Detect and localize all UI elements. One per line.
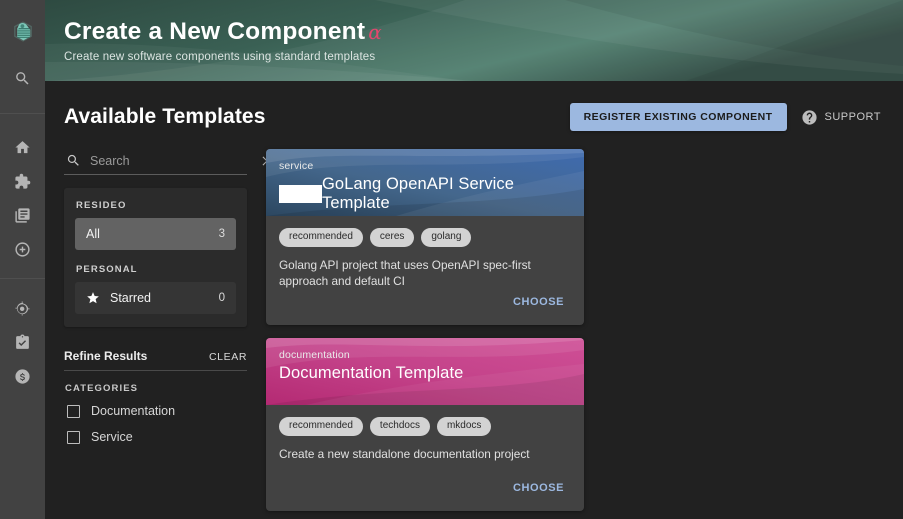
backstage-layers-logo-icon xyxy=(12,20,34,44)
alpha-badge: α xyxy=(365,20,382,44)
clear-filters-button[interactable]: CLEAR xyxy=(209,351,247,363)
template-title: GoLang OpenAPI Service Template xyxy=(322,175,570,213)
choose-button[interactable]: CHOOSE xyxy=(505,475,572,501)
template-title-row: Documentation Template xyxy=(279,364,570,383)
scope-filter-panel: RESIDEO All 3 PERSONAL Starred 0 xyxy=(64,188,247,327)
dollar-circle-icon xyxy=(14,368,31,385)
checkbox-label-service: Service xyxy=(91,430,133,444)
backstage-app: Create a New Componentα Create new softw… xyxy=(0,0,903,519)
filter-count-starred: 0 xyxy=(219,292,225,304)
template-card-header: service GoLang OpenAPI Service Template xyxy=(266,149,584,216)
filter-label-starred: Starred xyxy=(110,291,219,305)
template-card-actions: CHOOSE xyxy=(266,289,584,325)
main-content: Create a New Componentα Create new softw… xyxy=(45,0,903,519)
page-subtitle: Create new software components using sta… xyxy=(64,51,903,63)
sidebar-divider-bottom xyxy=(0,278,45,279)
template-cards-grid: service GoLang OpenAPI Service Template … xyxy=(266,149,881,519)
tag-chip[interactable]: recommended xyxy=(279,228,363,247)
search-icon xyxy=(14,70,31,87)
checkbox-row-documentation[interactable]: Documentation xyxy=(64,398,247,424)
filter-row-all[interactable]: All 3 xyxy=(75,218,236,250)
checkbox-documentation[interactable] xyxy=(67,405,80,418)
sidebar-divider-top xyxy=(0,113,45,114)
filter-group-label-org: RESIDEO xyxy=(76,200,236,211)
tech-radar-icon xyxy=(14,300,31,317)
help-circle-icon xyxy=(801,109,818,126)
support-link[interactable]: SUPPORT xyxy=(801,109,881,126)
checkbox-service[interactable] xyxy=(67,431,80,444)
template-card[interactable]: service GoLang OpenAPI Service Template … xyxy=(266,149,584,325)
template-title-row: GoLang OpenAPI Service Template xyxy=(279,175,570,213)
template-card-body: recommended techdocs mkdocs Create a new… xyxy=(266,405,584,475)
checkbox-row-service[interactable]: Service xyxy=(64,424,247,450)
clipboard-check-icon xyxy=(14,334,31,351)
tag-chip[interactable]: recommended xyxy=(279,417,363,436)
template-description: Golang API project that uses OpenAPI spe… xyxy=(279,258,571,289)
library-books-icon xyxy=(14,207,31,224)
filter-label-all: All xyxy=(86,227,219,241)
checkbox-label-documentation: Documentation xyxy=(91,404,175,418)
puzzle-piece-icon xyxy=(14,173,31,190)
left-sidebar xyxy=(0,0,45,519)
filters-column: RESIDEO All 3 PERSONAL Starred 0 xyxy=(64,149,247,519)
template-tags: recommended ceres golang xyxy=(279,228,571,247)
sidebar-item-create[interactable] xyxy=(0,232,45,266)
search-icon xyxy=(66,153,81,168)
template-kind: service xyxy=(279,160,570,172)
tag-chip[interactable]: mkdocs xyxy=(437,417,491,436)
star-filled-icon xyxy=(86,291,100,305)
template-card-body: recommended ceres golang Golang API proj… xyxy=(266,216,584,289)
template-tags: recommended techdocs mkdocs xyxy=(279,417,571,436)
template-card-actions: CHOOSE xyxy=(266,475,584,511)
filter-count-all: 3 xyxy=(219,228,225,240)
search-bar xyxy=(64,149,247,175)
broken-image-placeholder xyxy=(279,185,322,203)
sidebar-item-search[interactable] xyxy=(0,61,45,95)
filter-row-starred[interactable]: Starred 0 xyxy=(75,282,236,314)
categories-label: CATEGORIES xyxy=(65,383,247,394)
sidebar-item-cost[interactable] xyxy=(0,359,45,393)
tag-chip[interactable]: golang xyxy=(421,228,471,247)
sidebar-item-home[interactable] xyxy=(0,130,45,164)
page-title: Create a New Componentα xyxy=(64,17,903,47)
refine-results-section: Refine Results CLEAR CATEGORIES Document… xyxy=(64,349,247,450)
refine-results-title: Refine Results xyxy=(64,349,147,363)
sidebar-item-apis[interactable] xyxy=(0,164,45,198)
tag-chip[interactable]: techdocs xyxy=(370,417,430,436)
template-description: Create a new standalone documentation pr… xyxy=(279,447,571,463)
backstage-logo[interactable] xyxy=(0,16,45,48)
add-circle-icon xyxy=(14,241,31,258)
template-kind: documentation xyxy=(279,349,570,361)
sidebar-item-tasks[interactable] xyxy=(0,325,45,359)
section-title: Available Templates xyxy=(64,105,265,129)
support-label: SUPPORT xyxy=(825,111,881,123)
content-columns: RESIDEO All 3 PERSONAL Starred 0 xyxy=(45,137,903,519)
tag-chip[interactable]: ceres xyxy=(370,228,414,247)
toolbar-actions: REGISTER EXISTING COMPONENT SUPPORT xyxy=(570,103,881,131)
sidebar-item-docs[interactable] xyxy=(0,198,45,232)
content-toolbar: Available Templates REGISTER EXISTING CO… xyxy=(45,81,903,137)
template-title: Documentation Template xyxy=(279,364,463,383)
template-card-header: documentation Documentation Template xyxy=(266,338,584,405)
sidebar-item-radar[interactable] xyxy=(0,291,45,325)
choose-button[interactable]: CHOOSE xyxy=(505,289,572,315)
page-title-text: Create a New Component xyxy=(64,18,365,45)
filter-group-label-personal: PERSONAL xyxy=(76,264,236,275)
template-card[interactable]: documentation Documentation Template rec… xyxy=(266,338,584,511)
home-icon xyxy=(14,139,31,156)
search-input[interactable] xyxy=(90,154,251,168)
register-existing-component-button[interactable]: REGISTER EXISTING COMPONENT xyxy=(570,103,787,131)
refine-results-header: Refine Results CLEAR xyxy=(64,349,247,371)
page-header-banner: Create a New Componentα Create new softw… xyxy=(45,0,903,81)
